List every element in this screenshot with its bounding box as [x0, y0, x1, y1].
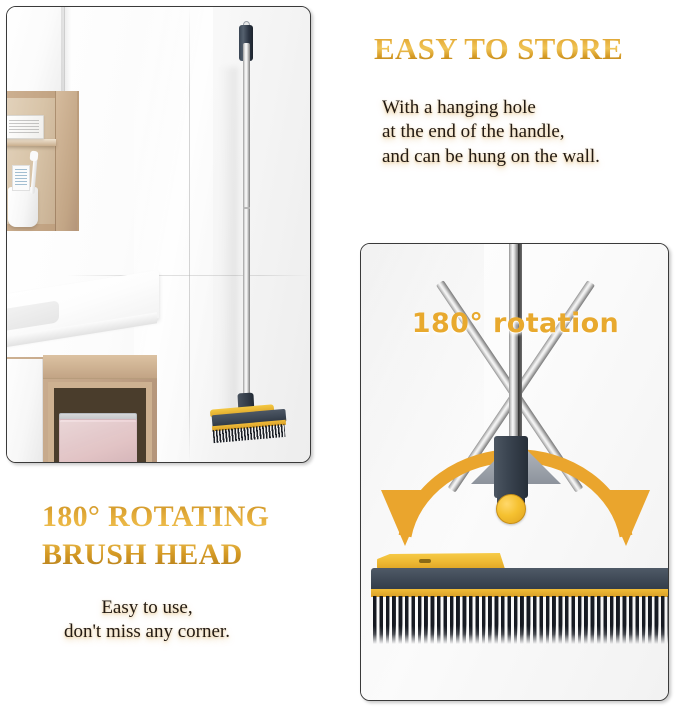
pink-storage-box: [59, 419, 137, 463]
heading-rotating-brush-head: 180° ROTATING BRUSH HEAD: [42, 498, 269, 575]
infographic-root: 180° rotation EASY: [0, 0, 679, 707]
body-rotating-brush-head: Easy to use, don't miss any corner.: [64, 596, 230, 645]
shelf-board: [6, 139, 56, 146]
body-easy-to-store: With a hanging hole at the end of the ha…: [382, 96, 600, 169]
toothbrush-head: [30, 151, 39, 162]
handle-joint: [243, 207, 250, 209]
vanity-door: [6, 359, 43, 463]
arrow-head-right: [602, 490, 650, 546]
brush-bristles-back-row: [375, 596, 669, 636]
niche-post: [55, 91, 77, 231]
broom-wall-shadow: [220, 67, 238, 437]
upper-white-cabinet: [6, 6, 65, 101]
tile-seam: [189, 7, 190, 462]
storage-box-on-shelf: [6, 115, 44, 139]
rotation-label: 180° rotation: [361, 308, 669, 339]
heading-easy-to-store: EASY TO STORE: [374, 32, 623, 66]
tile-seam: [67, 275, 310, 276]
cup-label: [12, 165, 30, 191]
yellow-pivot-knob: [496, 494, 526, 524]
bathroom-wall-hanging-photo: [6, 6, 311, 463]
wooden-shelf-niche: [6, 91, 79, 231]
vanity-rail: [43, 355, 157, 379]
brush-head-body: [371, 568, 669, 590]
180-degree-rotation-diagram: 180° rotation: [360, 243, 669, 701]
bathroom-scene: [7, 7, 310, 462]
squeegee-blade: [377, 553, 505, 569]
broom-handle-pole: [243, 43, 250, 398]
rotation-scene: 180° rotation: [361, 244, 668, 700]
arrow-head-left: [381, 490, 429, 546]
squeegee-notch: [419, 559, 431, 563]
pivot-connector-hub: [494, 436, 528, 498]
